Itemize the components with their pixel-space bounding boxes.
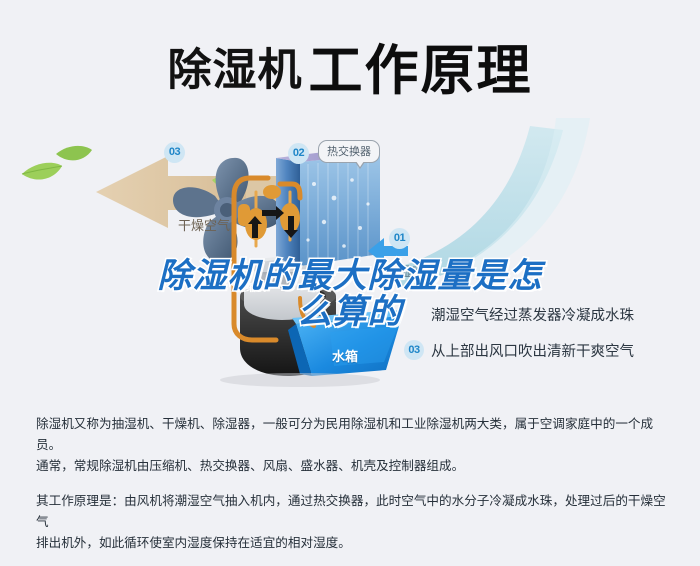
list-item: 03 从上部出风口吹出清新干爽空气: [404, 332, 694, 368]
step-list: 02 潮湿空气经过蒸发器冷凝成水珠 03 从上部出风口吹出清新干爽空气: [404, 296, 694, 368]
paragraph-1-line-2: 通常，常规除湿机由压缩机、热交换器、风扇、盛水器、机壳及控制器组成。: [36, 456, 670, 477]
body-copy: 除湿机又称为抽湿机、干燥机、除湿器，一般可分为民用除湿机和工业除湿机两大类，属于…: [36, 414, 670, 554]
paragraph-1-line-1: 除湿机又称为抽湿机、干燥机、除湿器，一般可分为民用除湿机和工业除湿机两大类，属于…: [36, 414, 670, 456]
water-tank-label: 水箱: [332, 346, 358, 365]
page-title: 除湿机工作原理: [0, 26, 700, 105]
page-title-part2: 工作原理: [309, 41, 533, 101]
page-title-part1: 除湿机: [168, 46, 303, 95]
diagram-badge-02: 02: [288, 143, 309, 164]
step-text: 从上部出风口吹出清新干爽空气: [431, 340, 634, 361]
infographic-page: 除湿机工作原理: [0, 0, 700, 566]
paragraph-spacer: [36, 477, 670, 491]
paragraph-2-line-2: 排出机外，如此循环使室内湿度保持在适宜的相对湿度。: [36, 533, 670, 554]
dry-air-label: 干燥空气: [178, 215, 230, 234]
heat-exchanger-callout: 热交换器: [318, 140, 380, 163]
diagram-badge-01: 01: [389, 228, 410, 249]
step-badge: 03: [404, 340, 424, 360]
step-text: 潮湿空气经过蒸发器冷凝成水珠: [431, 304, 634, 325]
humid-air-label: 潮湿空气: [386, 261, 438, 280]
list-item: 02 潮湿空气经过蒸发器冷凝成水珠: [404, 296, 694, 332]
paragraph-2-line-1: 其工作原理是：由风机将潮湿空气抽入机内，通过热交换器，此时空气中的水分子冷凝成水…: [36, 491, 670, 533]
diagram-badge-03: 03: [164, 142, 185, 163]
compressor-label: 压缩机: [236, 279, 266, 294]
